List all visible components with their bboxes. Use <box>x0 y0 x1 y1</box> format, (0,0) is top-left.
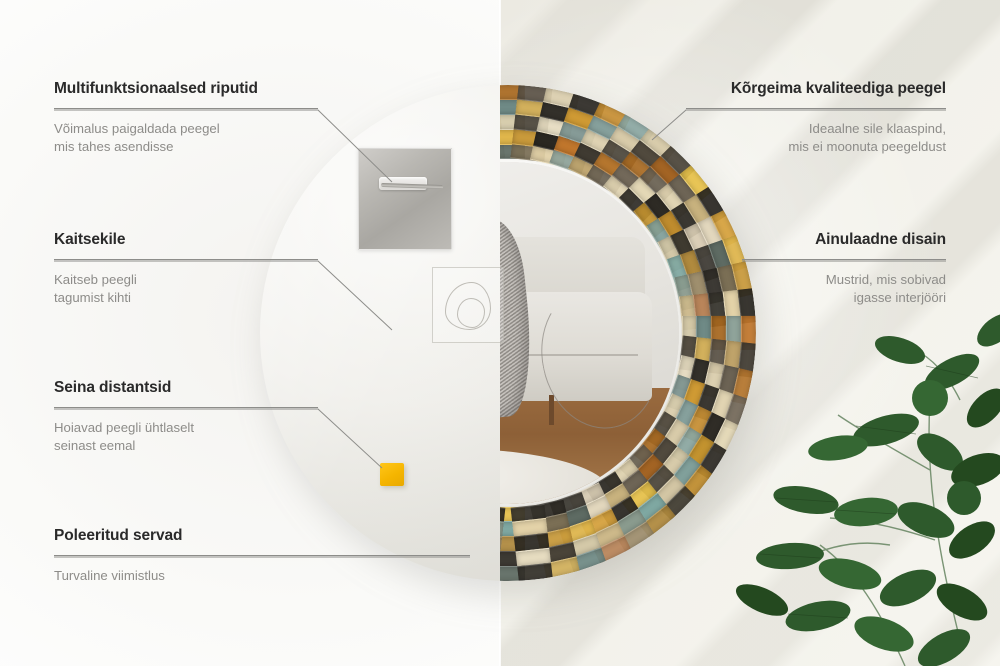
callout-rule <box>742 259 946 260</box>
callout-poleeritud-servad: Poleeritud servad Turvaline viimistlus <box>54 527 470 585</box>
callout-description: Mustrid, mis sobivad igasse interjööri <box>742 271 946 308</box>
product-mirror <box>260 85 756 581</box>
callout-title: Seina distantsid <box>54 379 318 398</box>
callout-description: Turvaline viimistlus <box>54 567 470 586</box>
callout-description: Võimalus paigaldada peegel mis tahes ase… <box>54 120 318 157</box>
reflected-room-scene <box>500 162 679 504</box>
callout-rule <box>54 259 318 260</box>
callout-korgeima-kvaliteediga-peegel: Kõrgeima kvaliteediga peegel Ideaalne si… <box>686 80 946 157</box>
mirror-front-face <box>500 85 756 581</box>
infographic-canvas: Multifunktsionaalsed riputid Võimalus pa… <box>0 0 1000 666</box>
callout-title: Kõrgeima kvaliteediga peegel <box>686 80 946 99</box>
callout-description: Kaitseb peegli tagumist kihti <box>54 271 318 308</box>
callout-multifunktsionaalsed-riputid: Multifunktsionaalsed riputid Võimalus pa… <box>54 80 318 157</box>
hanger-detail-swatch <box>358 148 452 250</box>
callout-ainulaadne-disain: Ainulaadne disain Mustrid, mis sobivad i… <box>742 231 946 308</box>
callout-title: Kaitsekile <box>54 231 318 250</box>
wall-spacer-part <box>380 463 404 486</box>
reflection-sofa-leg <box>549 395 554 426</box>
embossed-art-watermark <box>432 267 504 343</box>
mirror-front-clip <box>500 85 756 581</box>
callout-title: Multifunktsionaalsed riputid <box>54 80 318 99</box>
callout-kaitsekile: Kaitsekile Kaitseb peegli tagumist kihti <box>54 231 318 308</box>
callout-rule <box>54 555 470 556</box>
mirror-glass <box>500 162 679 504</box>
callout-rule <box>54 108 318 109</box>
callout-rule <box>54 407 318 408</box>
callout-description: Hoiavad peegli ühtlaselt seinast eemal <box>54 419 318 456</box>
callout-description: Ideaalne sile klaaspind, mis ei moonuta … <box>686 120 946 157</box>
callout-title: Ainulaadne disain <box>742 231 946 250</box>
callout-seina-distantsid: Seina distantsid Hoiavad peegli ühtlasel… <box>54 379 318 456</box>
art-face-inner-outline-icon <box>457 298 485 328</box>
callout-title: Poleeritud servad <box>54 527 470 546</box>
callout-rule <box>686 108 946 109</box>
